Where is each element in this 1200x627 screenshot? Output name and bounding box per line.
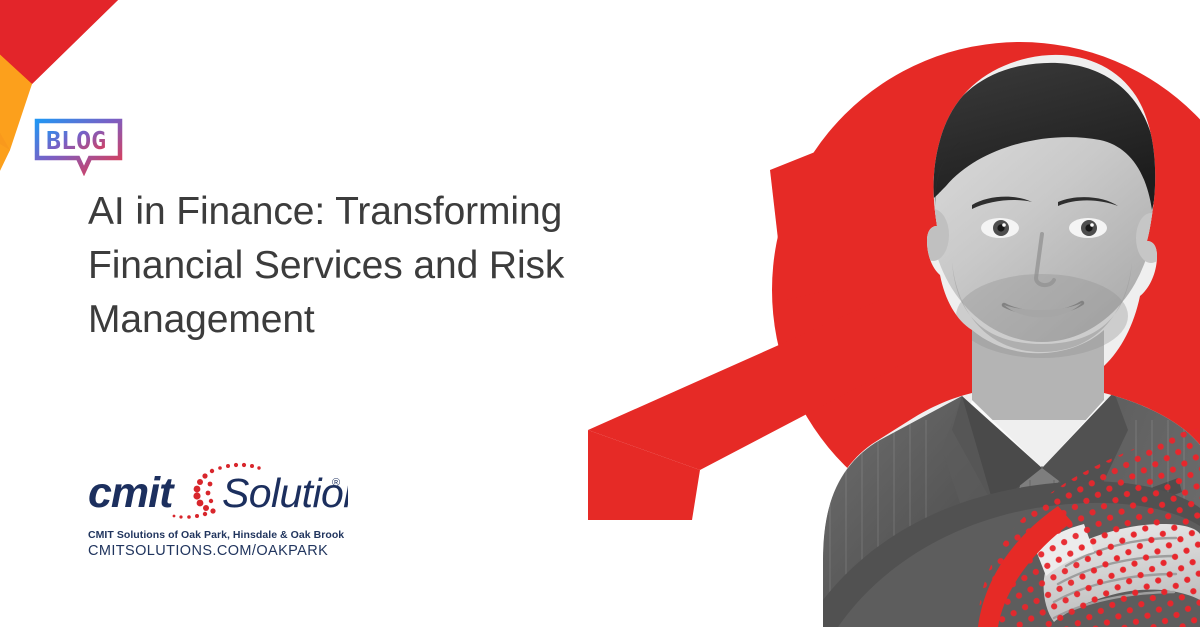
blog-badge-label: BLOG — [46, 126, 106, 155]
logo-tagline: CMIT Solutions of Oak Park, Hinsdale & O… — [88, 529, 388, 541]
brand-logo-block[interactable]: cmit Solutions ® CMIT Solutions of Oak P… — [88, 462, 388, 559]
hero-artwork-svg — [580, 0, 1200, 627]
logo-word-cmit: cmit — [88, 469, 175, 517]
page-title: AI in Finance: Transforming Financial Se… — [88, 185, 588, 346]
registered-trademark-icon: ® — [332, 477, 340, 489]
cmit-solutions-logo[interactable]: cmit Solutions ® — [88, 462, 348, 524]
banner-canvas: BLOG AI in Finance: Transforming Financi… — [0, 0, 1200, 627]
blog-badge[interactable]: BLOG — [34, 118, 130, 176]
logo-website: CMITSOLUTIONS.COM/OAKPARK — [88, 543, 388, 559]
blog-badge-svg: BLOG — [34, 118, 130, 176]
logo-word-solutions: Solutions — [222, 470, 348, 516]
hero-artwork — [580, 0, 1200, 627]
